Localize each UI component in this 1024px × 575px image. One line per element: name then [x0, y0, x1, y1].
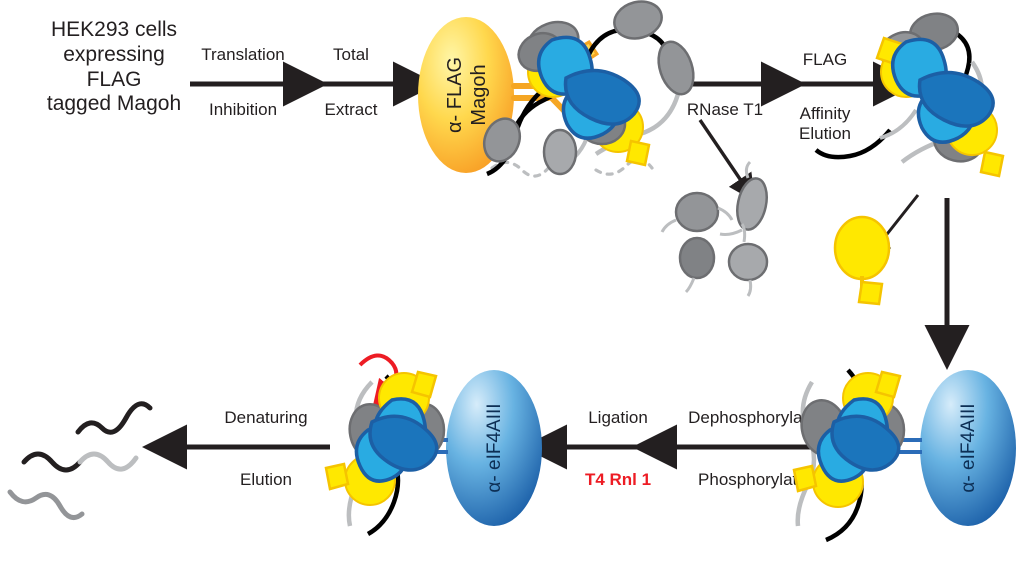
figure-canvas: HEK293 cells expressing FLAG tagged Mago…: [0, 0, 1024, 575]
bead-label-eif4aiii-center: α- eIF4AIII: [484, 403, 505, 492]
bead-label-flag-line2: Magoh: [468, 64, 490, 125]
complex-on-eif4aiii-bead-right: α- eIF4AIII: [794, 370, 1016, 540]
rnase-digested-fragments: [662, 162, 771, 296]
rna-ligated-gray-half: [80, 454, 136, 469]
rna-ligated-black-half: [24, 454, 80, 470]
complex-on-eif4aiii-bead-center: α- eIF4AIII: [326, 370, 542, 534]
eluted-rna-products: [10, 404, 150, 518]
bead-label-flag-line1: α- FLAG: [444, 57, 466, 133]
illustrations-layer: α- FLAG Magoh: [0, 0, 1024, 575]
released-flag-magoh: [835, 217, 889, 304]
rna-black-top: [78, 404, 150, 432]
bead-label-eif4aiii-right: α- eIF4AIII: [958, 403, 979, 492]
rna-gray-bottom: [10, 492, 82, 518]
eluted-complex-top-right: [816, 9, 1003, 176]
